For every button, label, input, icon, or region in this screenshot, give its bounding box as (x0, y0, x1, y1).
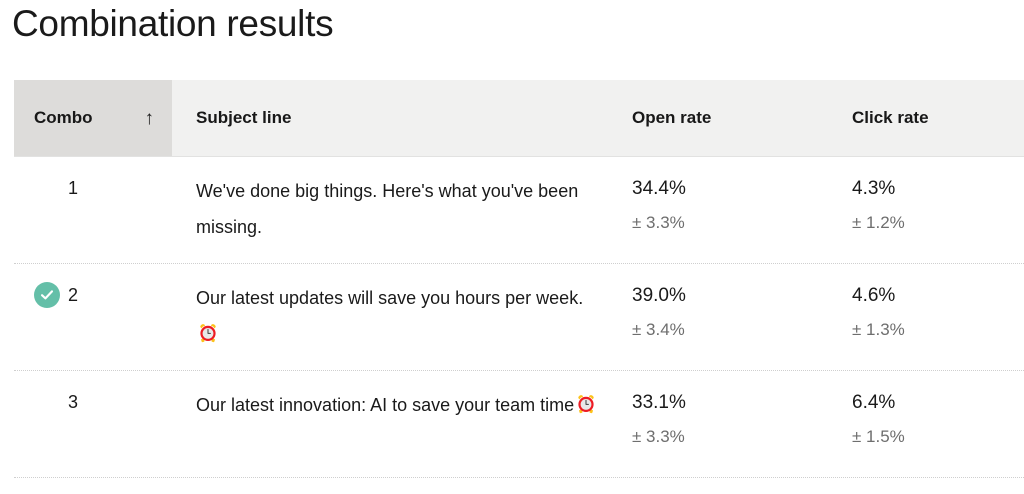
cell-open-rate: 39.0% ± 3.4% (620, 264, 840, 370)
combo-number: 3 (68, 392, 98, 413)
open-rate-value: 39.0% (632, 280, 840, 312)
column-header-open-rate-label: Open rate (632, 108, 711, 128)
subject-line-text: Our latest updates will save you hours p… (196, 288, 583, 308)
cell-combo: 2 (14, 264, 172, 370)
click-rate-margin: ± 1.2% (852, 205, 1024, 241)
column-header-subject-line-label: Subject line (196, 108, 291, 128)
table-header-row: Combo ↑ Subject line Open rate Click rat… (14, 80, 1024, 157)
table-row[interactable]: 3 Our latest innovation: AI to save your… (14, 371, 1024, 478)
click-rate-margin: ± 1.5% (852, 419, 1024, 455)
open-rate-value: 34.4% (632, 173, 840, 205)
combo-number: 1 (68, 178, 98, 199)
combination-results-table: Combo ↑ Subject line Open rate Click rat… (14, 80, 1024, 478)
alarm-clock-emoji (576, 394, 596, 414)
cell-combo: 1 (14, 157, 172, 263)
page-title: Combination results (12, 0, 333, 48)
open-rate-margin: ± 3.3% (632, 205, 840, 241)
click-rate-margin: ± 1.3% (852, 312, 1024, 348)
table-row[interactable]: 1 We've done big things. Here's what you… (14, 157, 1024, 264)
table-row[interactable]: 2 Our latest updates will save you hours… (14, 264, 1024, 371)
column-header-click-rate-label: Click rate (852, 108, 929, 128)
combo-number: 2 (68, 285, 98, 306)
open-rate-value: 33.1% (632, 387, 840, 419)
cell-click-rate: 4.3% ± 1.2% (840, 157, 1024, 263)
cell-subject-line: We've done big things. Here's what you'v… (172, 157, 620, 263)
sort-ascending-arrow-icon[interactable]: ↑ (145, 109, 159, 128)
click-rate-value: 4.6% (852, 280, 1024, 312)
cell-subject-line: Our latest innovation: AI to save your t… (172, 371, 620, 477)
cell-open-rate: 34.4% ± 3.3% (620, 157, 840, 263)
cell-subject-line: Our latest updates will save you hours p… (172, 264, 620, 370)
subject-line-text: Our latest innovation: AI to save your t… (196, 395, 574, 415)
cell-combo: 3 (14, 371, 172, 477)
cell-click-rate: 6.4% ± 1.5% (840, 371, 1024, 477)
cell-click-rate: 4.6% ± 1.3% (840, 264, 1024, 370)
column-header-open-rate[interactable]: Open rate (620, 80, 840, 156)
alarm-clock-emoji (198, 323, 218, 343)
column-header-click-rate[interactable]: Click rate (840, 80, 1024, 156)
open-rate-margin: ± 3.3% (632, 419, 840, 455)
subject-line-text: We've done big things. Here's what you'v… (196, 181, 578, 237)
click-rate-value: 6.4% (852, 387, 1024, 419)
column-header-combo-label: Combo (34, 108, 93, 128)
open-rate-margin: ± 3.4% (632, 312, 840, 348)
check-circle-icon (34, 282, 60, 308)
click-rate-value: 4.3% (852, 173, 1024, 205)
cell-open-rate: 33.1% ± 3.3% (620, 371, 840, 477)
column-header-combo[interactable]: Combo ↑ (14, 80, 172, 156)
column-header-subject-line[interactable]: Subject line (172, 80, 620, 156)
